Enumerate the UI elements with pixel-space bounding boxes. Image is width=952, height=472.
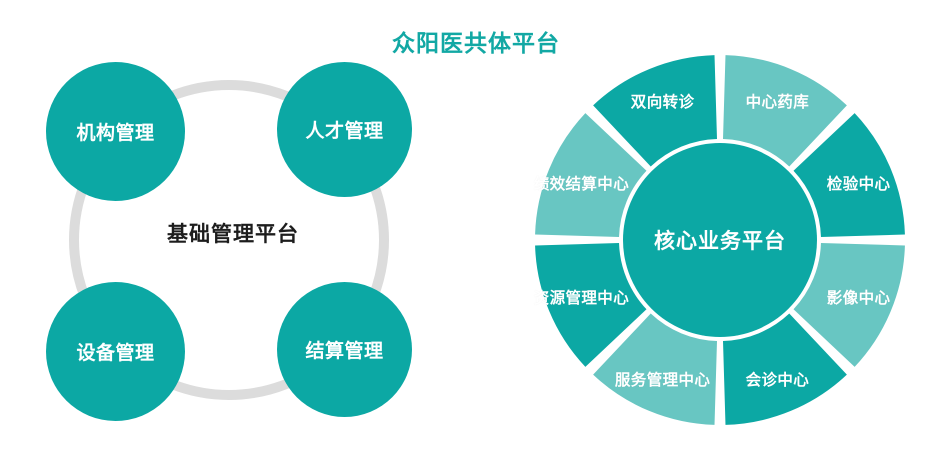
donut-segment-label: 检验中心: [827, 172, 891, 194]
node-circle-talent[interactable]: 人才管理: [277, 62, 412, 197]
donut-segment-label: 绩效结算中心: [534, 172, 629, 194]
donut-segment-label: 双向转诊: [631, 90, 695, 112]
donut-segment-label: 影像中心: [827, 286, 891, 308]
core-platform-center-label: 核心业务平台: [654, 225, 786, 255]
basic-management-platform-diagram: 机构管理 人才管理 设备管理 结算管理 基础管理平台: [0, 0, 470, 472]
node-label: 结算管理: [305, 336, 383, 363]
core-business-platform-diagram: 中心药库检验中心影像中心会诊中心服务管理中心资源管理中心绩效结算中心双向转诊 核…: [470, 0, 952, 472]
node-circle-organization[interactable]: 机构管理: [46, 62, 185, 201]
node-circle-settlement[interactable]: 结算管理: [277, 282, 412, 417]
basic-platform-center-label: 基础管理平台: [110, 218, 356, 248]
donut-segment-label: 资源管理中心: [534, 286, 629, 308]
diagram-canvas: 众阳医共体平台 机构管理 人才管理 设备管理 结算管理 基础管理平台 中心药库检…: [0, 0, 952, 472]
donut-segment-label: 会诊中心: [746, 368, 810, 390]
node-label: 设备管理: [76, 338, 154, 365]
donut-segment-label: 中心药库: [746, 90, 810, 112]
node-label: 人才管理: [305, 116, 383, 143]
donut-segment-label: 服务管理中心: [615, 368, 710, 390]
node-circle-equipment[interactable]: 设备管理: [46, 282, 185, 421]
node-label: 机构管理: [76, 118, 154, 145]
